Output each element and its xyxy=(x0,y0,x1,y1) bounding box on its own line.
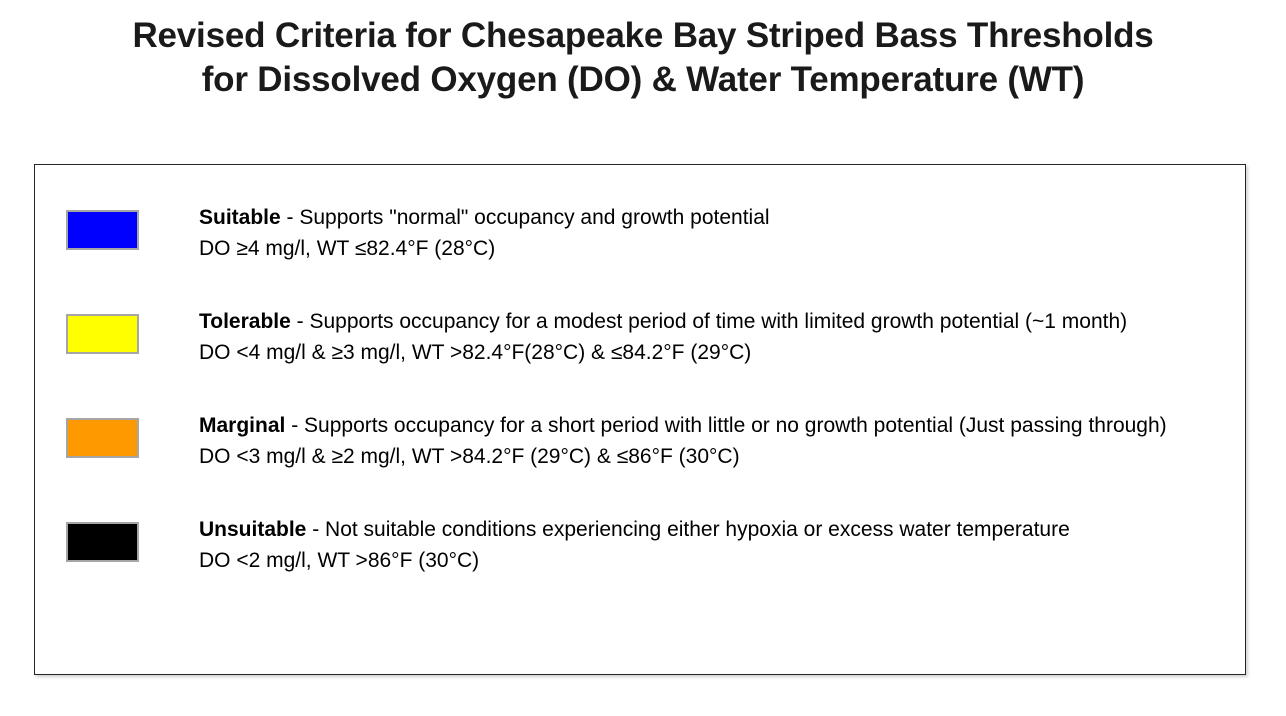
legend-item-thresholds: DO <2 mg/l, WT >86°F (30°C) xyxy=(199,545,1235,576)
legend-item-text: Tolerable - Supports occupancy for a mod… xyxy=(199,306,1235,368)
legend-item-label: Unsuitable xyxy=(199,518,306,541)
legend-item-description: Marginal - Supports occupancy for a shor… xyxy=(199,410,1235,441)
legend-item-text: Marginal - Supports occupancy for a shor… xyxy=(199,410,1235,472)
color-swatch-blue xyxy=(66,210,139,250)
page-title-line-1: Revised Criteria for Chesapeake Bay Stri… xyxy=(0,14,1286,58)
legend-item-description: Unsuitable - Not suitable conditions exp… xyxy=(199,514,1235,545)
color-swatch-yellow xyxy=(66,314,139,354)
slide-canvas: Revised Criteria for Chesapeake Bay Stri… xyxy=(0,0,1286,716)
legend-item-thresholds: DO <3 mg/l & ≥2 mg/l, WT >84.2°F (29°C) … xyxy=(199,441,1235,472)
legend-item-separator: - xyxy=(285,414,304,437)
legend-item-thresholds: DO ≥4 mg/l, WT ≤82.4°F (28°C) xyxy=(199,233,1235,264)
legend-panel: Suitable - Supports "normal" occupancy a… xyxy=(34,164,1246,675)
legend-item-text: Suitable - Supports "normal" occupancy a… xyxy=(199,202,1235,264)
legend-item-description-text: Not suitable conditions experiencing eit… xyxy=(325,518,1070,541)
legend-item-marginal: Marginal - Supports occupancy for a shor… xyxy=(66,410,1235,484)
legend-item-separator: - xyxy=(281,206,300,229)
page-title-line-2: for Dissolved Oxygen (DO) & Water Temper… xyxy=(0,58,1286,102)
page-title: Revised Criteria for Chesapeake Bay Stri… xyxy=(0,14,1286,102)
legend-item-tolerable: Tolerable - Supports occupancy for a mod… xyxy=(66,306,1235,380)
legend-list: Suitable - Supports "normal" occupancy a… xyxy=(66,202,1235,588)
legend-item-description-text: Supports "normal" occupancy and growth p… xyxy=(299,206,769,229)
legend-item-description: Tolerable - Supports occupancy for a mod… xyxy=(199,306,1235,337)
legend-item-description-text: Supports occupancy for a short period wi… xyxy=(304,414,1167,437)
legend-item-text: Unsuitable - Not suitable conditions exp… xyxy=(199,514,1235,576)
legend-item-label: Suitable xyxy=(199,206,281,229)
legend-item-label: Marginal xyxy=(199,414,285,437)
legend-item-unsuitable: Unsuitable - Not suitable conditions exp… xyxy=(66,514,1235,588)
legend-item-separator: - xyxy=(291,310,310,333)
color-swatch-orange xyxy=(66,418,139,458)
legend-item-description: Suitable - Supports "normal" occupancy a… xyxy=(199,202,1235,233)
legend-item-suitable: Suitable - Supports "normal" occupancy a… xyxy=(66,202,1235,276)
legend-item-separator: - xyxy=(306,518,325,541)
legend-item-description-text: Supports occupancy for a modest period o… xyxy=(309,310,1127,333)
legend-item-label: Tolerable xyxy=(199,310,291,333)
legend-item-thresholds: DO <4 mg/l & ≥3 mg/l, WT >82.4°F(28°C) &… xyxy=(199,337,1235,368)
color-swatch-black xyxy=(66,522,139,562)
